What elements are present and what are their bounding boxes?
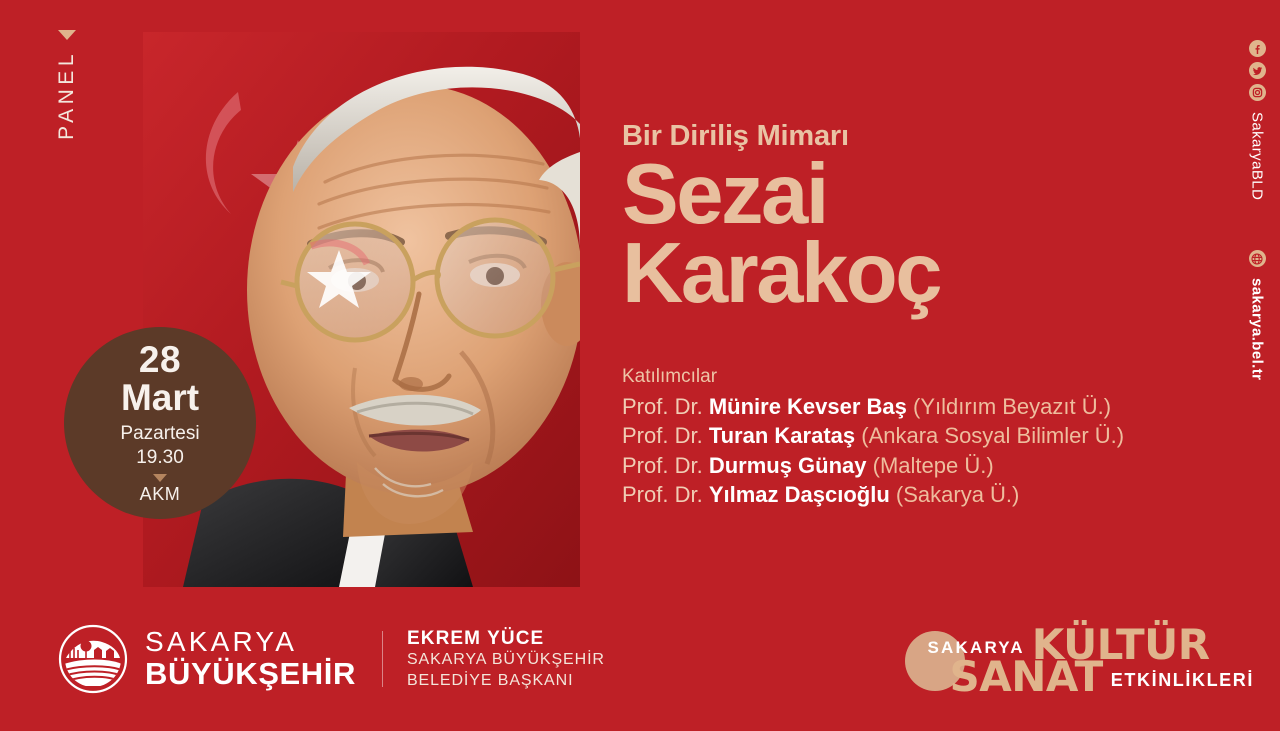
- participants-label: Katılımcılar: [622, 366, 1222, 388]
- mayor-role-line-2: BELEDİYE BAŞKANI: [407, 671, 605, 691]
- panel-label-strip: PANEL: [44, 30, 90, 220]
- participant-row: Prof. Dr. Münire Kevser Baş (Yıldırım Be…: [622, 392, 1222, 421]
- municipality-line-1: SAKARYA: [145, 627, 356, 657]
- date-weekday: Pazartesi: [120, 422, 199, 447]
- globe-icon[interactable]: [1249, 250, 1266, 267]
- footer-divider: [382, 631, 383, 687]
- headline-line-2: Karakoç: [622, 234, 1182, 313]
- participant-name: Turan Karataş: [709, 423, 855, 448]
- headline-line-1: Sezai: [622, 155, 1182, 234]
- participant-row: Prof. Dr. Durmuş Günay (Maltepe Ü.): [622, 451, 1222, 480]
- kultur-sanat-etkinlikleri: ETKİNLİKLERİ: [1111, 670, 1254, 691]
- participant-title: Prof. Dr.: [622, 453, 703, 478]
- participant-name: Münire Kevser Baş: [709, 394, 907, 419]
- participant-name: Yılmaz Daşcıoğlu: [709, 482, 890, 507]
- participant-org: (Ankara Sosyal Bilimler Ü.): [861, 423, 1124, 448]
- social-handle[interactable]: SakaryaBLD: [1249, 112, 1266, 200]
- participant-name: Durmuş Günay: [709, 453, 867, 478]
- participant-title: Prof. Dr.: [622, 482, 703, 507]
- participant-org: (Sakarya Ü.): [896, 482, 1019, 507]
- mayor-name: EKREM YÜCE: [407, 627, 605, 651]
- panel-label: PANEL: [55, 50, 79, 140]
- kultur-sanat-wordmark: SAKARYA KÜLTÜR SANAT ETKİNLİKLERİ: [905, 626, 1254, 696]
- participant-row: Prof. Dr. Turan Karataş (Ankara Sosyal B…: [622, 421, 1222, 450]
- website-url[interactable]: sakarya.bel.tr: [1249, 278, 1266, 380]
- participant-org: (Maltepe Ü.): [873, 453, 994, 478]
- participant-org: (Yıldırım Beyazıt Ü.): [913, 394, 1111, 419]
- date-day: 28: [139, 341, 181, 378]
- website-group: sakarya.bel.tr: [1234, 250, 1280, 380]
- twitter-icon[interactable]: [1249, 62, 1266, 79]
- municipality-lockup: SAKARYA BÜYÜKŞEHİR EKREM YÜCE SAKARYA BÜ…: [58, 624, 605, 694]
- event-poster: PANEL: [0, 0, 1280, 731]
- facebook-icon[interactable]: [1249, 40, 1266, 57]
- participant-row: Prof. Dr. Yılmaz Daşcıoğlu (Sakarya Ü.): [622, 480, 1222, 509]
- municipality-line-2: BÜYÜKŞEHİR: [145, 657, 356, 691]
- sakarya-crest-icon: [58, 624, 128, 694]
- mayor-block: EKREM YÜCE SAKARYA BÜYÜKŞEHİR BELEDİYE B…: [407, 627, 605, 692]
- kultur-sanat-lockup: SAKARYA KÜLTÜR SANAT ETKİNLİKLERİ: [905, 625, 1254, 697]
- social-rail: SakaryaBLD sakarya.bel.tr: [1234, 0, 1280, 731]
- participant-title: Prof. Dr.: [622, 394, 703, 419]
- participant-title: Prof. Dr.: [622, 423, 703, 448]
- date-time: 19.30: [136, 446, 184, 470]
- date-badge: 28 Mart Pazartesi 19.30 AKM: [64, 327, 256, 519]
- participants-block: Katılımcılar Prof. Dr. Münire Kevser Baş…: [622, 366, 1222, 509]
- municipality-wordmark: SAKARYA BÜYÜKŞEHİR: [145, 627, 356, 691]
- triangle-down-icon: [153, 474, 167, 482]
- date-month: Mart: [121, 379, 199, 418]
- mayor-role-line-1: SAKARYA BÜYÜKŞEHİR: [407, 650, 605, 670]
- triangle-down-icon: [58, 30, 76, 40]
- date-venue: AKM: [140, 484, 181, 505]
- headline-block: Bir Diriliş Mimarı Sezai Karakoç: [622, 120, 1182, 313]
- social-handle-group: SakaryaBLD: [1234, 40, 1280, 200]
- instagram-icon[interactable]: [1249, 84, 1266, 101]
- kultur-sanat-sanat: SANAT: [949, 658, 1102, 697]
